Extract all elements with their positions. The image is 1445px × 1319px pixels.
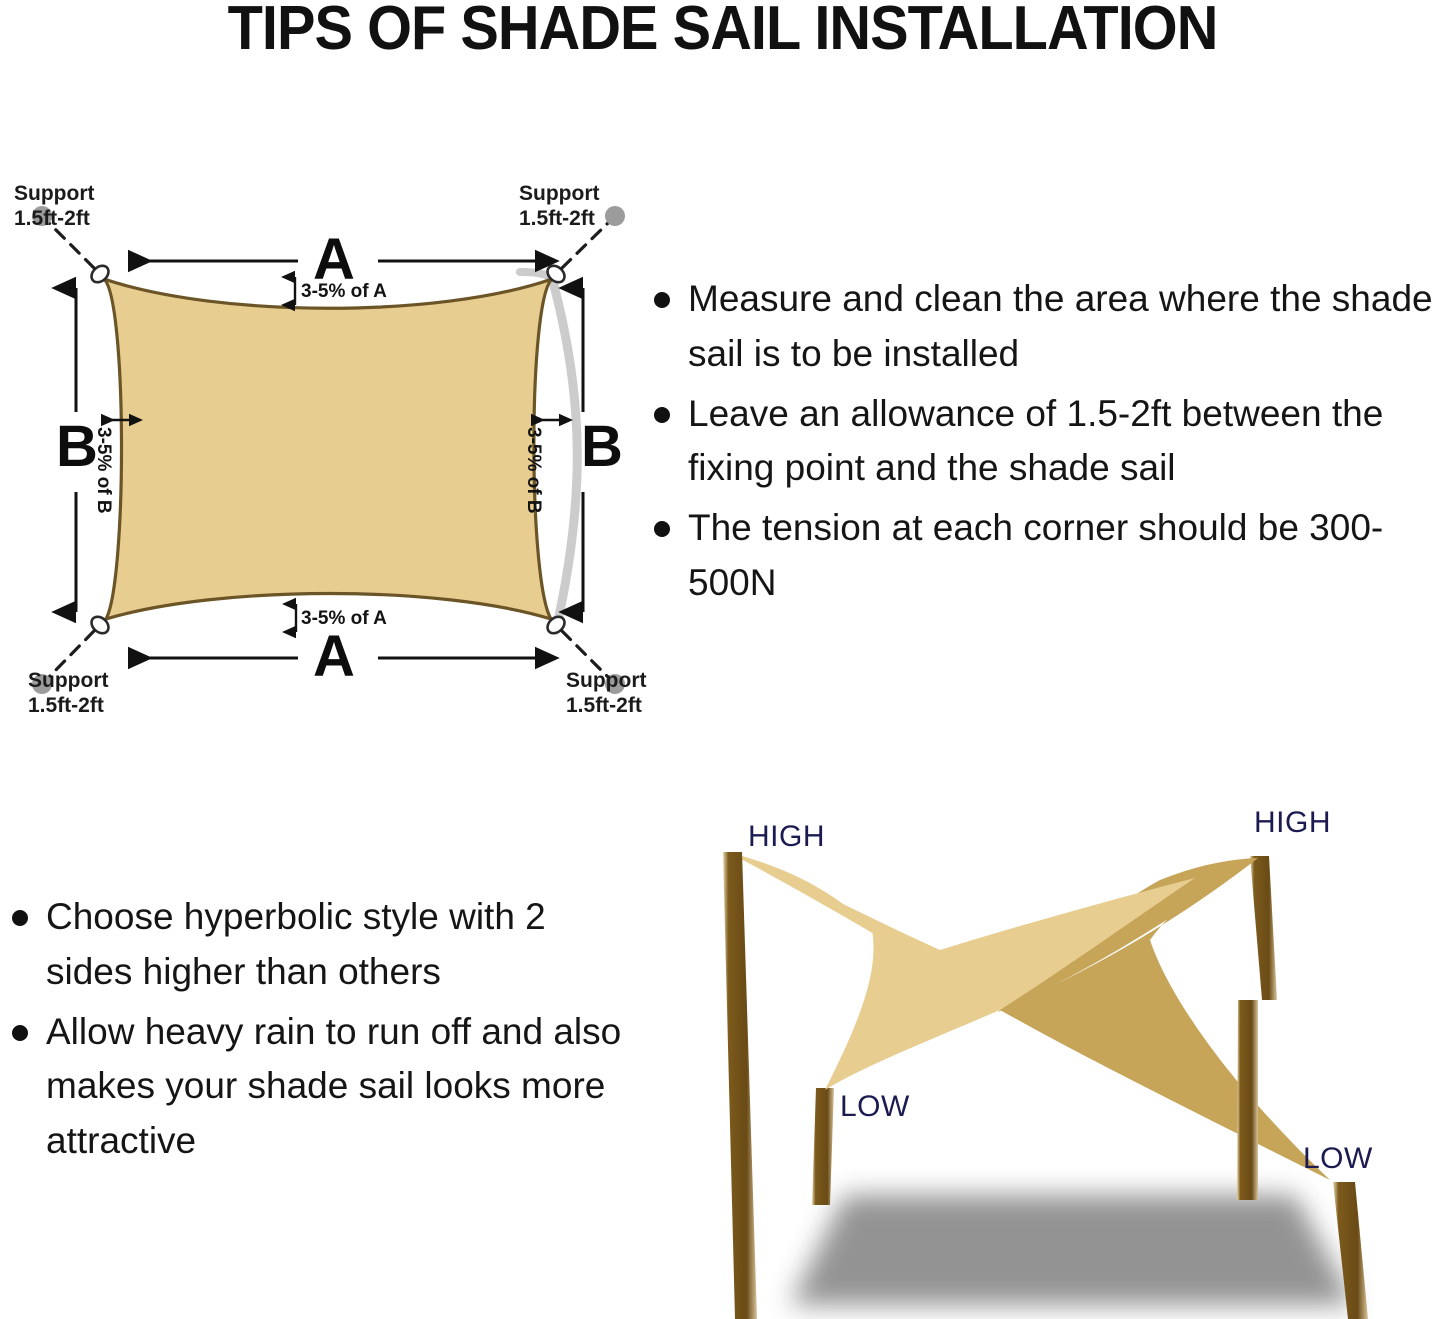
post-right-mid [1237,1000,1258,1200]
sail-shape [104,279,552,619]
list-item: The tension at each corner should be 300… [648,501,1445,611]
sail-surface-rear [1000,858,1330,1180]
post-left-high [723,852,757,1319]
post-left-low [812,1088,834,1205]
grommet-top-right [544,262,567,285]
grommet-top-left [88,262,111,285]
tips-list-top: Measure and clean the area where the sha… [648,272,1445,616]
support-label-top-left: Support 1.5ft-2ft [14,182,94,231]
post-label-left-high: HIGH [748,820,825,854]
dimension-letter-bottom-a: A [313,628,355,686]
grommet-group [88,262,567,636]
infographic-page: TIPS OF SHADE SAIL INSTALLATION [0,0,1445,1319]
list-item: Measure and clean the area where the sha… [648,272,1445,382]
tips-list-bottom: Choose hyperbolic style with 2 sides hig… [6,890,626,1174]
curve-allowance-bottom: 3-5% of A [301,608,387,630]
sail-surface-rear-upper [998,858,1258,1012]
sail-surface-front [728,852,1000,1090]
support-label-bottom-left: Support 1.5ft-2ft [28,669,108,718]
post-label-right-low: LOW [1303,1142,1373,1176]
post-label-left-low: LOW [840,1090,910,1124]
support-dot-top-right [605,206,625,226]
ground-shadow [790,1195,1355,1305]
support-label-top-right: Support 1.5ft-2ft [519,182,599,231]
curve-allowance-right: 3-5% of B [522,427,544,514]
dimension-letter-right-b: B [581,418,623,476]
reference-arc-right [552,278,577,630]
curve-allowance-left: 3-5% of B [92,427,114,514]
post-right-low [1333,1182,1368,1319]
post-label-right-high: HIGH [1254,806,1331,840]
grommet-bottom-right [544,613,567,636]
list-item: Leave an allowance of 1.5-2ft between th… [648,387,1445,497]
post-right-high [1250,856,1277,1000]
curve-allowance-top: 3-5% of A [301,281,387,303]
grommet-bottom-left [88,613,111,636]
sail-surface-front-upper [728,852,1195,1010]
page-title: TIPS OF SHADE SAIL INSTALLATION [51,0,1395,61]
list-item: Allow heavy rain to run off and also mak… [6,1005,626,1169]
support-label-bottom-right: Support 1.5ft-2ft [566,669,646,718]
reference-arc-top-right [520,272,553,280]
list-item: Choose hyperbolic style with 2 sides hig… [6,890,626,1000]
